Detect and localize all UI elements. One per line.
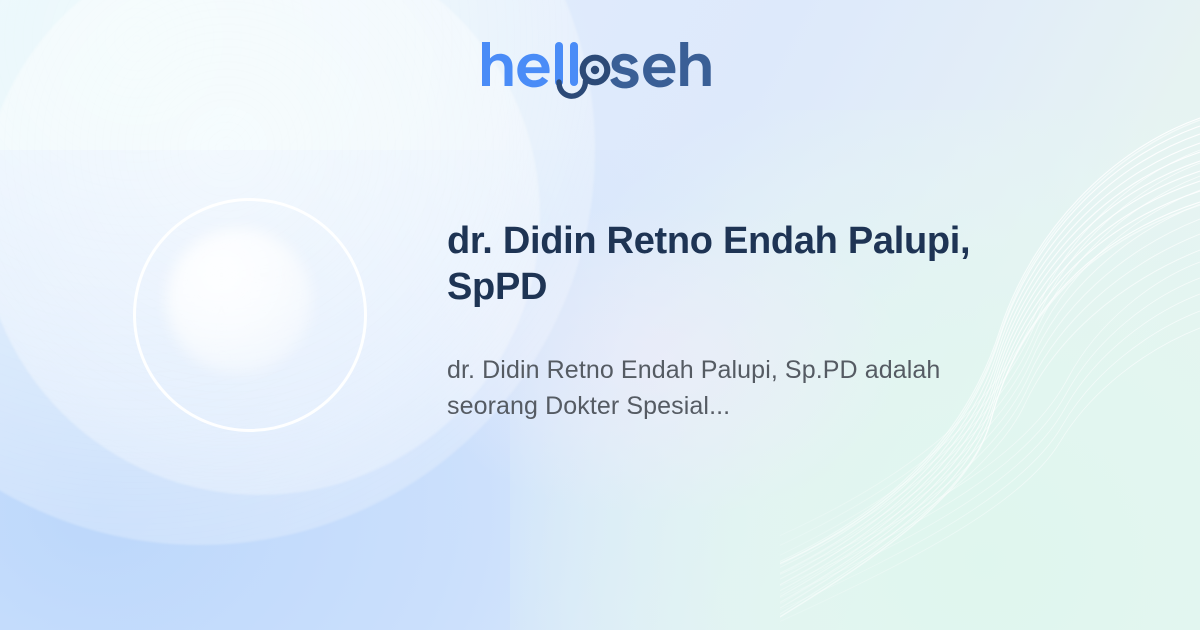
brand-logo[interactable] (0, 38, 1200, 100)
og-card: dr. Didin Retno Endah Palupi, SpPD dr. D… (0, 0, 1200, 630)
page-subtitle: dr. Didin Retno Endah Palupi, Sp.PD adal… (447, 352, 987, 424)
circle-outline-decor-icon (133, 198, 367, 432)
card-content: dr. Didin Retno Endah Palupi, SpPD dr. D… (447, 218, 1017, 424)
stethoscope-icon (478, 38, 722, 100)
page-title: dr. Didin Retno Endah Palupi, SpPD (447, 218, 1017, 311)
